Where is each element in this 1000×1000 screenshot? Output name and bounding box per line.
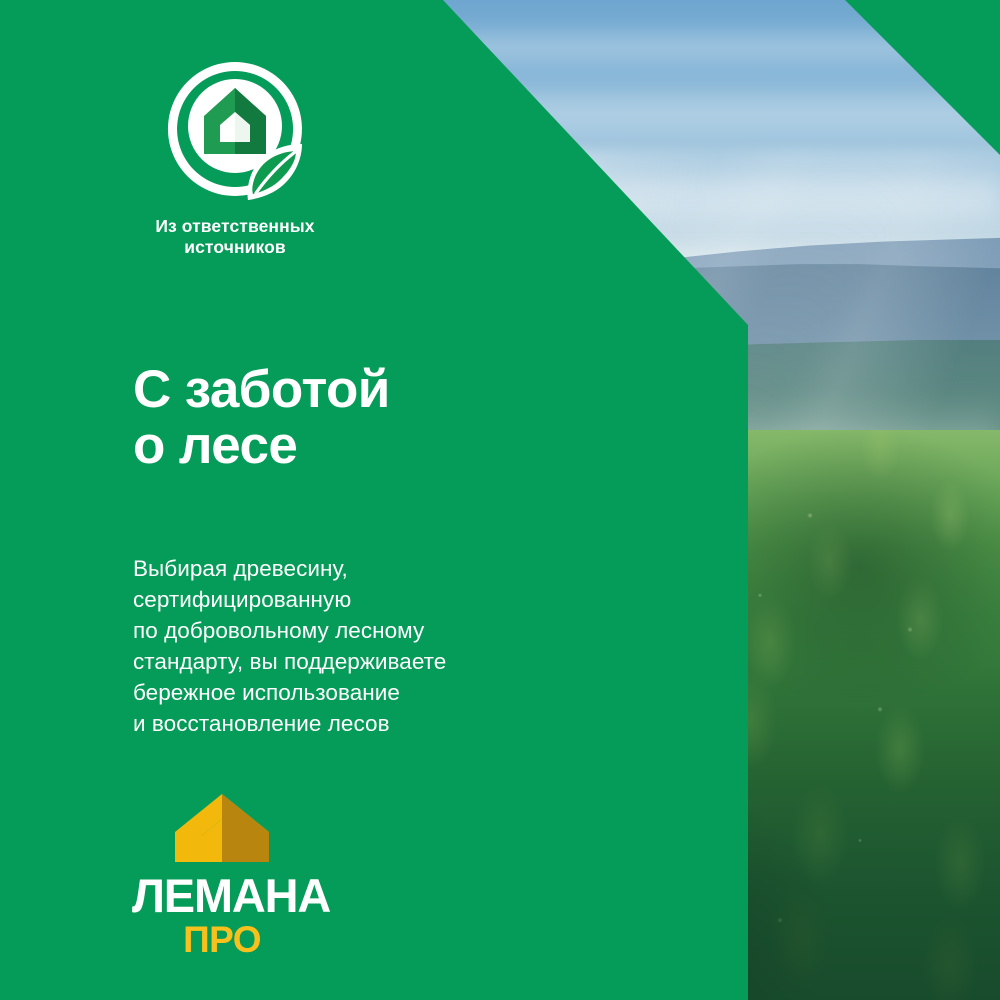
eco-house-leaf-circle-icon — [164, 58, 306, 200]
promo-poster: Из ответственных источников С заботой о … — [0, 0, 1000, 1000]
brand-name: ЛЕМАНА — [132, 872, 312, 919]
eco-certification-badge: Из ответственных источников — [130, 58, 340, 259]
body-copy: Выбирая древесину, сертифицированную по … — [133, 553, 446, 739]
lemana-house-icon — [173, 792, 271, 864]
brand-lockup: ЛЕМАНА ПРО — [132, 792, 312, 958]
headline: С заботой о лесе — [133, 362, 390, 475]
eco-badge-caption: Из ответственных источников — [130, 216, 340, 259]
content-column: Из ответственных источников С заботой о … — [0, 0, 748, 1000]
brand-sub-name: ПРО — [132, 921, 312, 958]
